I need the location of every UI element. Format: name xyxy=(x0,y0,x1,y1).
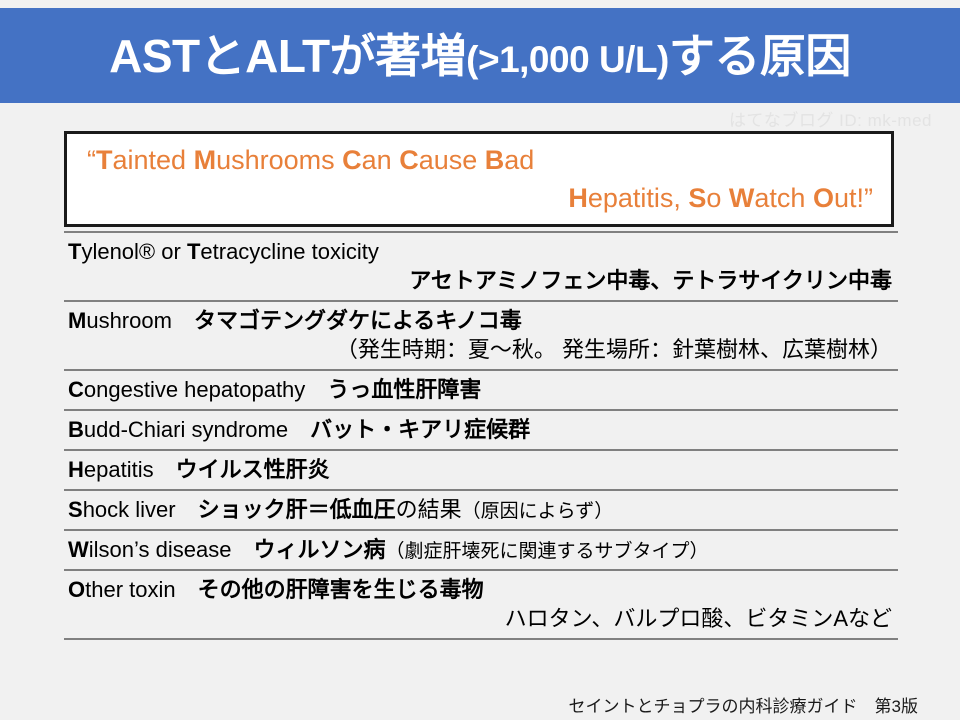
title-part-2: する原因 xyxy=(669,30,851,82)
mnemonic-initial: M xyxy=(194,145,217,175)
mnemonic-line-2: Hepatitis, So Watch Out!” xyxy=(568,183,873,214)
row-divider xyxy=(64,638,898,640)
mnemonic-initial: W xyxy=(729,183,754,213)
row-japanese-label: タマゴテングダケによるキノコ毒 xyxy=(194,308,522,333)
row-japanese-detail: （発生時期：夏〜秋。 発生場所：針葉樹林、広葉樹林） xyxy=(336,337,892,362)
row-english-label: udd-Chiari syndrome xyxy=(84,417,288,442)
row-primary-line: Hepatitis ウイルス性肝炎 xyxy=(68,455,898,484)
row-japanese-label: ショック肝＝低血圧 xyxy=(198,497,396,522)
row-japanese-detail: アセトアミノフェン中毒、テトラサイクリン中毒 xyxy=(409,268,892,293)
table-row[interactable]: Wilson’s disease ウィルソン病（劇症肝壊死に関連するサブタイプ） xyxy=(64,531,898,569)
page-title: ASTとALTが著増(>1,000 U/L)する原因 xyxy=(109,33,851,79)
mnemonic-initial: S xyxy=(688,183,706,213)
causes-table: Tylenol® or Tetracycline toxicityアセトアミノフ… xyxy=(64,231,898,640)
row-japanese-note: （劇症肝壊死に関連するサブタイプ） xyxy=(385,541,708,562)
title-part-1: ASTとALTが著増 xyxy=(109,30,466,82)
row-gap xyxy=(231,537,253,562)
row-gap xyxy=(172,308,194,333)
row-english-label: ther toxin xyxy=(85,577,176,602)
table-row[interactable]: Mushroom タマゴテングダケによるキノコ毒（発生時期：夏〜秋。 発生場所：… xyxy=(64,302,898,369)
row-initial: B xyxy=(68,417,84,442)
mnemonic-word-rest: an xyxy=(362,145,400,175)
row-initial: S xyxy=(68,497,83,522)
row-english-label: ylenol® or xyxy=(81,239,186,264)
table-row[interactable]: Congestive hepatopathy うっ血性肝障害 xyxy=(64,371,898,409)
row-gap xyxy=(288,417,310,442)
row-gap xyxy=(176,577,198,602)
row-english-label: ongestive hepatopathy xyxy=(84,377,305,402)
row-japanese-note: （原因によらず） xyxy=(462,501,614,522)
mnemonic-word-rest: ainted xyxy=(113,145,194,175)
row-japanese-label: ウイルス性肝炎 xyxy=(176,457,330,482)
mnemonic-close-quote: ” xyxy=(864,183,873,213)
mnemonic-initial: H xyxy=(568,183,588,213)
row-gap xyxy=(176,497,198,522)
mnemonic-initial: T xyxy=(96,145,113,175)
row-japanese-regular: の結果 xyxy=(396,497,462,522)
row-initial: W xyxy=(68,537,89,562)
source-footer: セイントとチョプラの内科診療ガイド 第3版 xyxy=(569,692,918,717)
row-primary-line: Shock liver ショック肝＝低血圧の結果（原因によらず） xyxy=(68,495,898,524)
mnemonic-word-rest: epatitis, xyxy=(588,183,689,213)
mnemonic-word-rest: o xyxy=(706,183,729,213)
mnemonic-box: “Tainted Mushrooms Can Cause Bad Hepatit… xyxy=(64,131,894,227)
mnemonic-word-rest: atch xyxy=(754,183,813,213)
title-banner: ASTとALTが著増(>1,000 U/L)する原因 xyxy=(0,8,960,103)
row-english-label: ushroom xyxy=(86,308,172,333)
row-primary-line: Other toxin その他の肝障害を生じる毒物 xyxy=(68,575,898,604)
table-row[interactable]: Shock liver ショック肝＝低血圧の結果（原因によらず） xyxy=(64,491,898,529)
table-row[interactable]: Other toxin その他の肝障害を生じる毒物ハロタン、バルプロ酸、ビタミン… xyxy=(64,571,898,638)
row-gap xyxy=(305,377,327,402)
blog-watermark: はてなブログ ID: mk-med xyxy=(729,106,932,131)
row-initial: M xyxy=(68,308,86,333)
mnemonic-word-rest: ause xyxy=(419,145,485,175)
mnemonic-word-rest: ad xyxy=(504,145,534,175)
row-secondary-line: ハロタン、バルプロ酸、ビタミンAなど xyxy=(68,604,898,633)
row-japanese-detail: ハロタン、バルプロ酸、ビタミンAなど xyxy=(505,606,892,631)
row-japanese-label: うっ血性肝障害 xyxy=(327,377,481,402)
row-primary-line: Budd-Chiari syndrome バット・キアリ症候群 xyxy=(68,415,898,444)
row-english-label-secondary: etracycline toxicity xyxy=(200,239,379,264)
table-row[interactable]: Budd-Chiari syndrome バット・キアリ症候群 xyxy=(64,411,898,449)
table-row[interactable]: Tylenol® or Tetracycline toxicityアセトアミノフ… xyxy=(64,233,898,300)
row-initial: T xyxy=(68,239,81,264)
row-initial: C xyxy=(68,377,84,402)
mnemonic-word-rest: ut! xyxy=(834,183,864,213)
mnemonic-open-quote: “ xyxy=(87,145,96,175)
row-primary-line: Congestive hepatopathy うっ血性肝障害 xyxy=(68,375,898,404)
mnemonic-initial: B xyxy=(485,145,505,175)
mnemonic-word-rest: ushrooms xyxy=(216,145,342,175)
row-english-label: hock liver xyxy=(83,497,176,522)
row-secondary-line: （発生時期：夏〜秋。 発生場所：針葉樹林、広葉樹林） xyxy=(68,335,898,364)
row-secondary-line: アセトアミノフェン中毒、テトラサイクリン中毒 xyxy=(68,266,898,295)
row-gap xyxy=(154,457,176,482)
row-english-label: epatitis xyxy=(84,457,154,482)
row-primary-line: Tylenol® or Tetracycline toxicity xyxy=(68,237,898,266)
row-primary-line: Mushroom タマゴテングダケによるキノコ毒 xyxy=(68,306,898,335)
table-row[interactable]: Hepatitis ウイルス性肝炎 xyxy=(64,451,898,489)
mnemonic-initial: C xyxy=(399,145,419,175)
row-japanese-label: バット・キアリ症候群 xyxy=(310,417,530,442)
row-initial: H xyxy=(68,457,84,482)
row-japanese-label: その他の肝障害を生じる毒物 xyxy=(198,577,484,602)
mnemonic-initial: C xyxy=(342,145,362,175)
mnemonic-line-1: “Tainted Mushrooms Can Cause Bad xyxy=(87,145,534,176)
title-parenthetical: (>1,000 U/L) xyxy=(466,39,669,80)
mnemonic-initial: O xyxy=(813,183,834,213)
row-initial: O xyxy=(68,577,85,602)
row-english-label: ilson’s disease xyxy=(89,537,232,562)
row-japanese-label: ウィルソン病 xyxy=(253,537,385,562)
row-primary-line: Wilson’s disease ウィルソン病（劇症肝壊死に関連するサブタイプ） xyxy=(68,535,898,564)
row-initial-secondary: T xyxy=(187,239,200,264)
